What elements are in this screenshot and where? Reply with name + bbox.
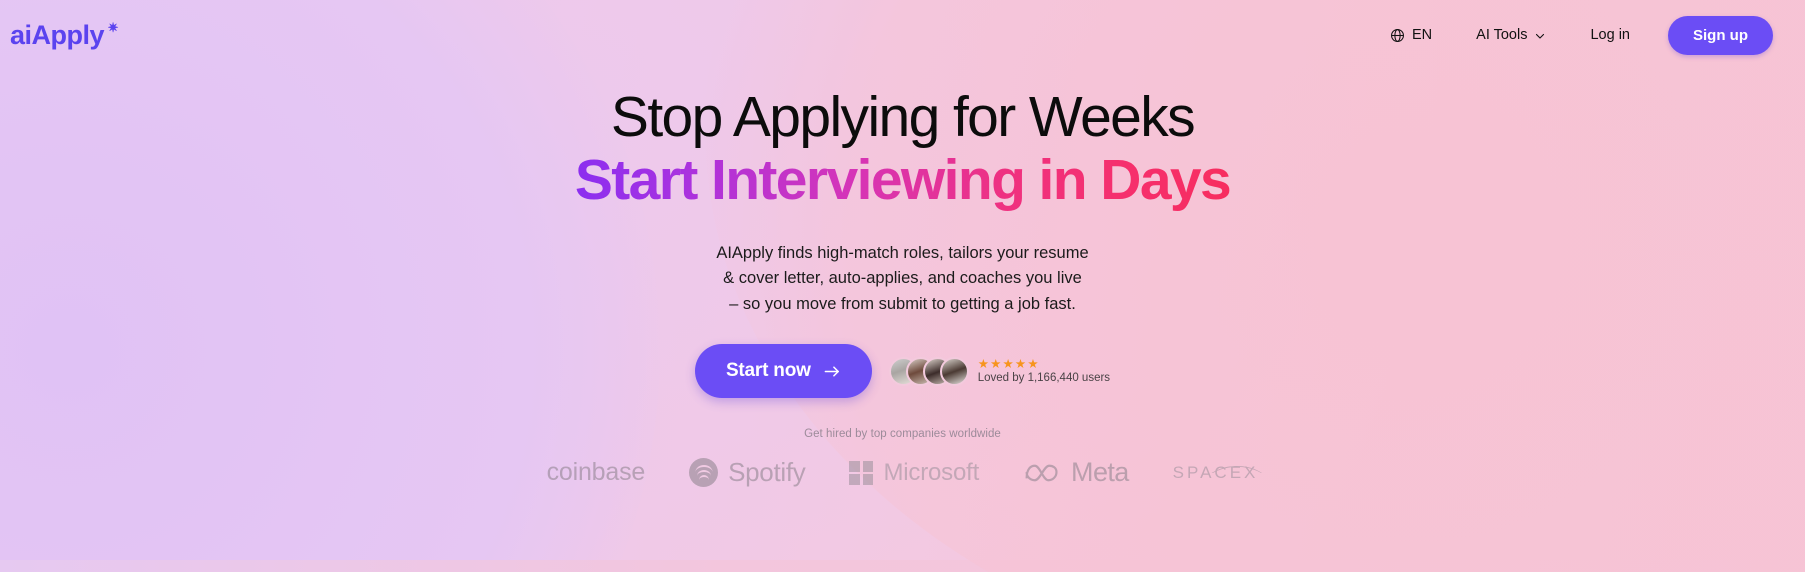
logo-spacex: SPACEX	[1173, 463, 1259, 483]
language-label: EN	[1412, 27, 1432, 43]
headline-line-1: Stop Applying for Weeks	[611, 88, 1194, 146]
logo-microsoft: Microsoft	[849, 459, 979, 487]
nav-right-group: EN AI Tools Log in Sign up	[1368, 16, 1773, 55]
login-link[interactable]: Log in	[1568, 27, 1652, 43]
start-now-button[interactable]: Start now	[695, 344, 872, 398]
meta-infinity-icon	[1023, 460, 1061, 486]
cta-row: Start now ★★★★★ Loved by 1,166,440 users	[695, 344, 1110, 398]
star-rating-icon: ★★★★★	[978, 358, 1110, 371]
chevron-down-icon	[1534, 30, 1546, 42]
ai-tools-label: AI Tools	[1476, 27, 1527, 43]
trusted-caption: Get hired by top companies worldwide	[804, 428, 1001, 440]
logo-meta: Meta	[1023, 457, 1129, 488]
social-proof: ★★★★★ Loved by 1,166,440 users	[889, 357, 1110, 386]
language-selector[interactable]: EN	[1368, 27, 1454, 43]
sparkle-icon: ✷	[108, 21, 118, 34]
login-label: Log in	[1590, 27, 1630, 43]
headline-line-2: Start Interviewing in Days	[575, 150, 1230, 212]
spacex-wordmark-text: SPACEX	[1173, 463, 1259, 482]
signup-button[interactable]: Sign up	[1668, 16, 1773, 55]
loved-by-count: Loved by 1,166,440 users	[978, 373, 1110, 385]
hero-subtext-line-2: & cover letter, auto-applies, and coache…	[716, 266, 1088, 292]
coinbase-wordmark: coinbase	[547, 458, 645, 487]
brand-logo[interactable]: aiApply ✷	[10, 22, 118, 49]
spacex-wordmark: SPACEX	[1173, 463, 1259, 483]
rating-block: ★★★★★ Loved by 1,166,440 users	[978, 358, 1110, 384]
hero-subtext-line-1: AIApply finds high-match roles, tailors …	[716, 241, 1088, 267]
start-now-label: Start now	[726, 360, 811, 382]
logo-spotify: Spotify	[689, 457, 805, 488]
top-navigation-bar: aiApply ✷ EN AI Tools Log in	[0, 0, 1805, 70]
brand-logo-text: aiApply	[10, 20, 104, 50]
spotify-wordmark: Spotify	[728, 457, 805, 488]
hero-subtext-line-3: – so you move from submit to getting a j…	[716, 292, 1088, 318]
hero-subtext: AIApply finds high-match roles, tailors …	[716, 241, 1088, 318]
spotify-icon	[689, 458, 718, 487]
meta-wordmark: Meta	[1071, 457, 1129, 488]
logo-coinbase: coinbase	[547, 458, 645, 487]
avatar-stack	[889, 357, 969, 386]
hero-section: Stop Applying for Weeks Start Interviewi…	[0, 0, 1805, 572]
globe-icon	[1390, 28, 1405, 43]
ai-tools-menu[interactable]: AI Tools	[1454, 27, 1568, 43]
hero-page: aiApply ✷ EN AI Tools Log in	[0, 0, 1805, 572]
microsoft-icon	[849, 461, 873, 485]
avatar	[940, 357, 969, 386]
arrow-right-icon	[824, 364, 841, 379]
company-logo-row: coinbase Spotify Microsoft Meta	[547, 457, 1259, 488]
microsoft-wordmark: Microsoft	[883, 459, 979, 487]
